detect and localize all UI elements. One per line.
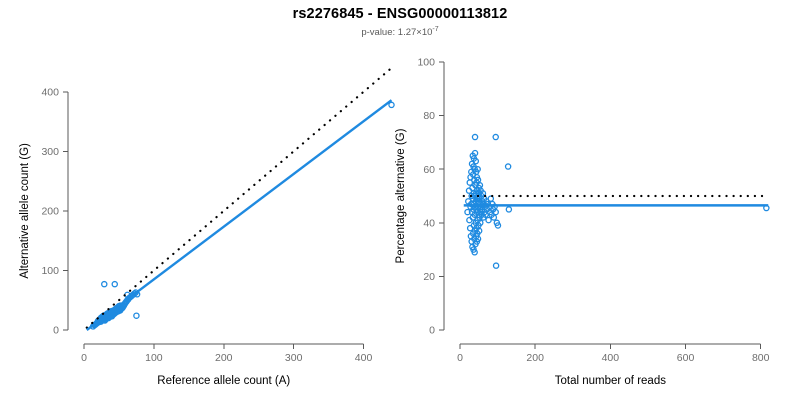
x-axis-tick-label: 600	[677, 352, 695, 364]
data-point	[102, 282, 107, 287]
data-point	[506, 164, 511, 169]
pvalue-exponent: -7	[432, 26, 438, 33]
y-axis-title: Alternative allele count (G)	[19, 143, 31, 279]
y-axis-tick-label: 100	[41, 265, 59, 277]
y-axis-tick-label: 200	[41, 206, 59, 218]
y-axis-tick-label: 100	[417, 57, 435, 69]
x-axis-tick-label: 100	[145, 352, 163, 364]
y-axis-title: Percentage alternative (G)	[395, 128, 407, 263]
data-point	[506, 207, 511, 212]
data-series-percentage-alternative-per-sample	[465, 134, 769, 268]
data-point	[389, 102, 394, 107]
y-axis-tick-label: 400	[41, 86, 59, 98]
y-axis-tick-label: 0	[429, 325, 435, 337]
y-axis-tick-label: 80	[423, 110, 435, 122]
y-axis-tick-label: 60	[423, 164, 435, 176]
x-axis-tick-label: 200	[526, 352, 544, 364]
x-axis-tick-label: 400	[602, 352, 620, 364]
data-point	[493, 134, 498, 139]
y-axis-tick-label: 300	[41, 146, 59, 158]
y-axis-tick-label: 0	[53, 325, 59, 337]
x-axis-tick-label: 800	[752, 352, 770, 364]
y-axis-tick-label: 40	[423, 217, 435, 229]
page-title: rs2276845 - ENSG00000113812	[0, 6, 800, 22]
fit-line	[87, 100, 392, 330]
pvalue-text: p-value: 1.27	[361, 27, 416, 38]
data-point	[134, 313, 139, 318]
panel-right-scatter: 0204060801000200400600800Total number of…	[395, 57, 770, 387]
data-point	[472, 134, 477, 139]
data-point	[486, 218, 491, 223]
figure-subtitle: p-value: 1.27×10-7	[0, 26, 800, 38]
x-axis-title: Total number of reads	[555, 375, 666, 387]
figure-root: rs2276845 - ENSG00000113812 p-value: 1.2…	[0, 0, 800, 400]
data-point	[112, 282, 117, 287]
x-axis-title: Reference allele count (A)	[157, 375, 290, 387]
data-point	[493, 263, 498, 268]
y-axis-tick-label: 20	[423, 271, 435, 283]
x-axis-tick-label: 300	[285, 352, 303, 364]
panel-left-scatter: 01002003004000100200300400Reference alle…	[19, 68, 394, 387]
x-axis-tick-label: 200	[215, 352, 233, 364]
pvalue-times: ×10	[416, 27, 432, 38]
reference-line	[87, 68, 392, 328]
x-axis-tick-label: 0	[81, 352, 87, 364]
plot-surface: 01002003004000100200300400Reference alle…	[0, 0, 800, 400]
x-axis-tick-label: 400	[355, 352, 373, 364]
data-series-allele-counts	[90, 102, 394, 329]
x-axis-tick-label: 0	[457, 352, 463, 364]
